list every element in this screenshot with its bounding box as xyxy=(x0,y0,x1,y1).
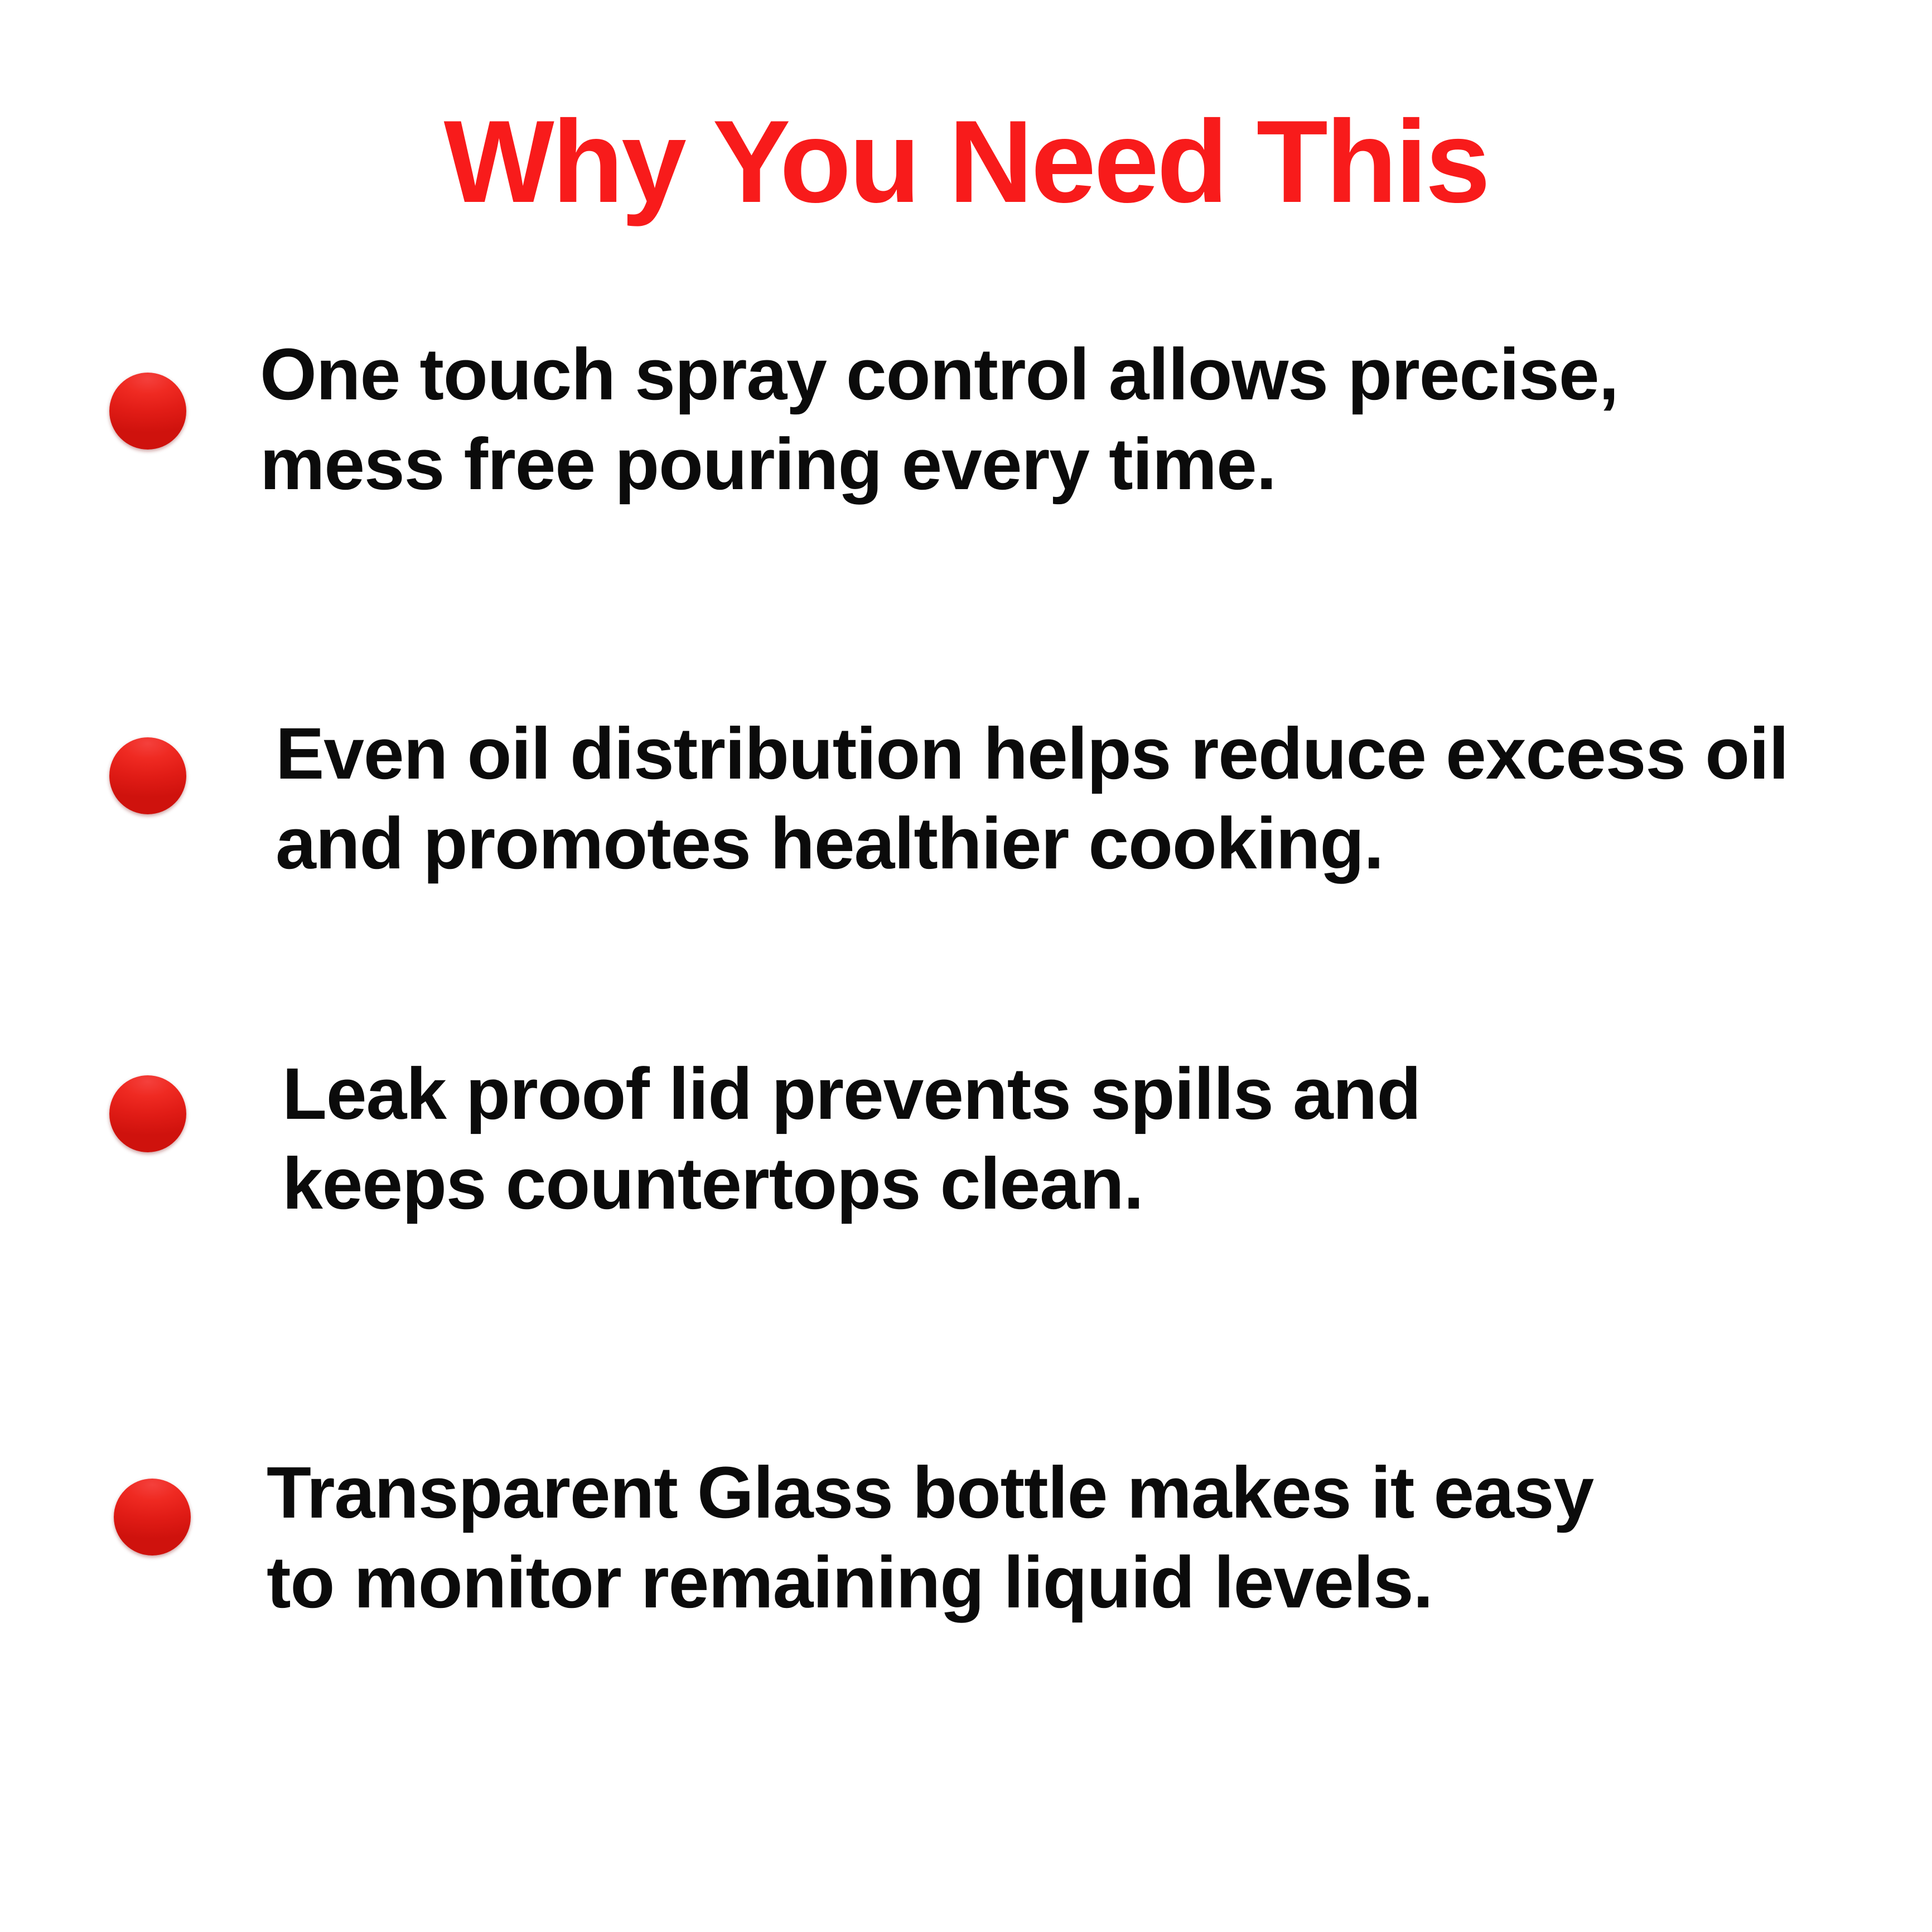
list-item-label: Even oil distribution helps reduce exces… xyxy=(276,708,1815,888)
list-item-label: Leak proof lid prevents spills and keeps… xyxy=(282,1049,1822,1228)
red-circle-bullet-icon xyxy=(109,1075,186,1152)
red-circle-bullet-icon xyxy=(109,373,186,450)
promo-feature-card: Why You Need This One touch spray contro… xyxy=(0,0,1932,1932)
list-item-label: Transparent Glass bottle makes it easy t… xyxy=(267,1447,1806,1627)
red-circle-bullet-icon xyxy=(109,737,186,814)
list-item-label: One touch spray control allows precise, … xyxy=(260,329,1799,509)
red-circle-bullet-icon xyxy=(114,1479,191,1556)
page-title: Why You Need This xyxy=(0,98,1932,226)
benefits-list: One touch spray control allows precise, … xyxy=(0,329,1932,1835)
